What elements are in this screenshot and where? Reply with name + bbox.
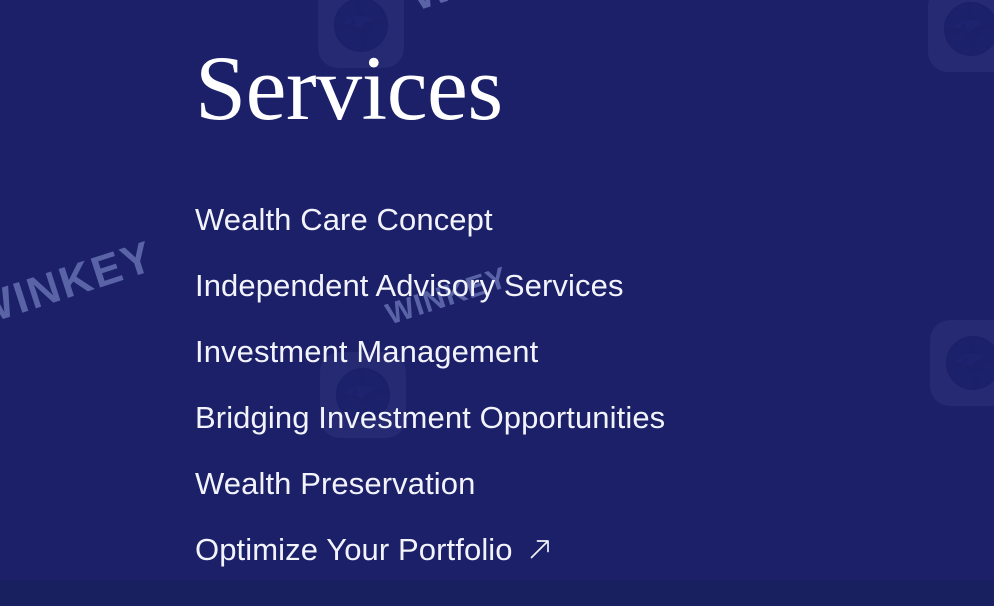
service-item-label: Investment Management [195,336,538,367]
services-content: Services Wealth Care Concept Independent… [195,0,994,606]
arrow-up-right-icon[interactable] [525,534,555,564]
service-item-label: Optimize Your Portfolio [195,534,513,565]
service-item-independent-advisory-services[interactable]: Independent Advisory Services [195,252,665,318]
services-page: WINKEY WINKEY [0,0,994,606]
service-item-label: Wealth Preservation [195,468,475,499]
services-list: Wealth Care Concept Independent Advisory… [195,186,665,582]
service-item-wealth-preservation[interactable]: Wealth Preservation [195,450,665,516]
page-title: Services [195,42,503,134]
watermark-text: WINKEY [0,232,160,338]
service-item-label: Wealth Care Concept [195,204,493,235]
service-item-optimize-your-portfolio[interactable]: Optimize Your Portfolio [195,516,665,582]
service-item-bridging-investment-opportunities[interactable]: Bridging Investment Opportunities [195,384,665,450]
service-item-investment-management[interactable]: Investment Management [195,318,665,384]
service-item-label: Independent Advisory Services [195,270,624,301]
service-item-wealth-care-concept[interactable]: Wealth Care Concept [195,186,665,252]
service-item-label: Bridging Investment Opportunities [195,402,665,433]
